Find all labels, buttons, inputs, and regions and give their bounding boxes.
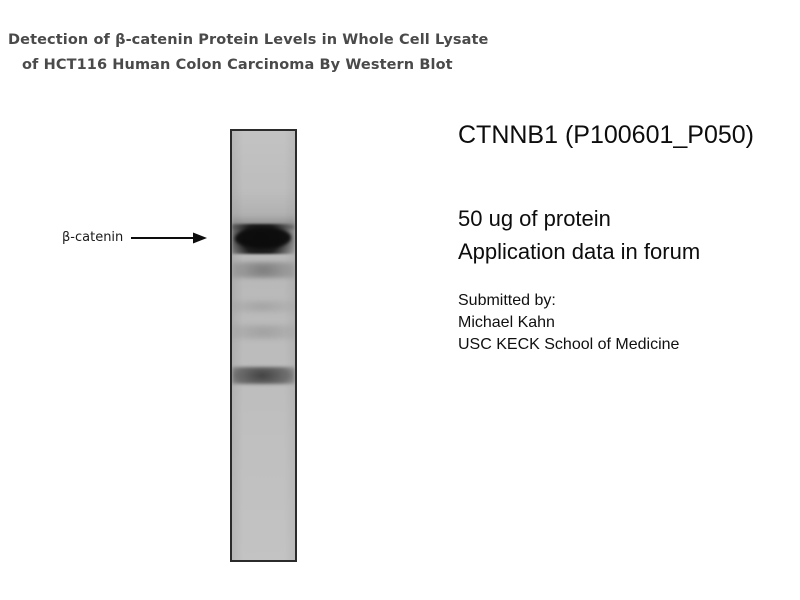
page-title-line-1: Detection of β-catenin Protein Levels in…: [8, 28, 528, 53]
submitter-name: Michael Kahn: [458, 312, 798, 334]
western-blot-figure: Detection of β-catenin Protein Levels in…: [0, 0, 800, 600]
blot-band-secondary: [232, 262, 295, 278]
detail-protein-amount: 50 ug of protein: [458, 202, 798, 235]
blot-band-shoulder: [232, 215, 295, 229]
submitter-block: Submitted by: Michael Kahn USC KECK Scho…: [458, 290, 798, 356]
page-title-line-2: of HCT116 Human Colon Carcinoma By Weste…: [8, 53, 528, 78]
detail-application-data: Application data in forum: [458, 235, 798, 268]
blot-band-faint-lower: [232, 325, 295, 339]
blot-band-beta-catenin-main: [232, 224, 295, 254]
antibody-name: CTNNB1 (P100601_P050): [458, 120, 798, 150]
band-label-beta-catenin: β-catenin: [62, 227, 123, 249]
submitted-by-label: Submitted by:: [458, 290, 798, 312]
info-panel: CTNNB1 (P100601_P050) 50 ug of protein A…: [458, 120, 798, 356]
western-blot-lane: [230, 129, 297, 562]
blot-band-faint-upper: [232, 301, 295, 312]
arrow-right-icon: [131, 231, 207, 245]
blot-background-smear: [232, 191, 295, 225]
blot-illumination-overlay: [232, 131, 295, 560]
figure-title: Detection of β-catenin Protein Levels in…: [8, 28, 528, 78]
experiment-details: 50 ug of protein Application data in for…: [458, 202, 798, 268]
blot-band-beta-catenin-core: [235, 228, 291, 248]
band-annotation: β-catenin: [62, 227, 207, 249]
submitter-affiliation: USC KECK School of Medicine: [458, 334, 798, 356]
blot-membrane-frame: [230, 129, 297, 562]
blot-band-lower: [232, 367, 295, 384]
